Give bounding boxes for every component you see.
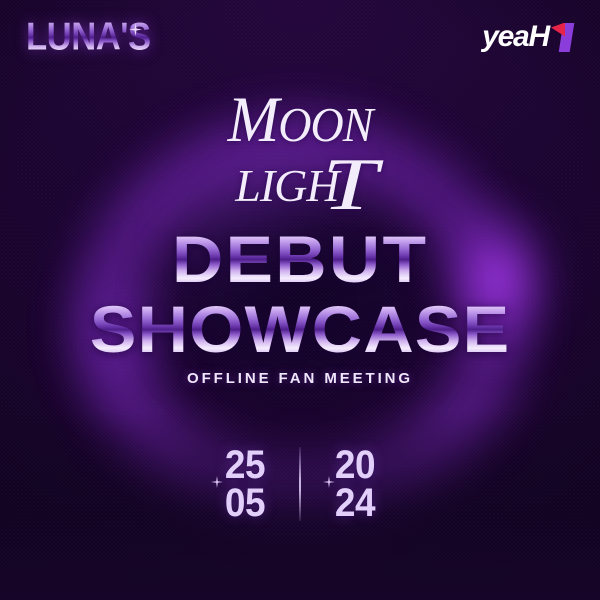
partner-logo-numeral — [551, 23, 572, 52]
partner-logo-text: yeaH — [482, 22, 549, 52]
headline-debut: DEBUT — [0, 226, 600, 292]
sparkle-icon — [211, 476, 223, 488]
headline-block: DEBUT SHOWCASE — [0, 226, 600, 362]
sparkle-icon — [323, 476, 335, 488]
event-date-block: 25 05 20 24 — [0, 446, 600, 521]
date-divider — [299, 447, 301, 521]
date-year-second: 24 — [335, 482, 375, 523]
poster-canvas: LUNA'S yeaH MOON LIGHT DEBUT SHOWCASE — [0, 0, 600, 600]
numeral-flag — [551, 23, 565, 37]
date-year-first: 20 — [335, 444, 375, 485]
sparkle-icon — [129, 23, 142, 36]
headline-showcase: SHOWCASE — [0, 296, 600, 362]
event-date-day-month: 25 05 — [197, 446, 293, 521]
date-month: 05 — [225, 482, 265, 523]
brand-logo-lunas-text: LUNA'S — [26, 11, 179, 63]
date-day: 25 — [225, 444, 265, 485]
event-date-year: 20 24 — [307, 446, 403, 521]
subtitle-text: OFFLINE FAN MEETING — [0, 370, 600, 387]
partner-logo-yeah1: yeaH — [482, 20, 572, 54]
brand-logo-lunas: LUNA'S — [26, 14, 176, 60]
